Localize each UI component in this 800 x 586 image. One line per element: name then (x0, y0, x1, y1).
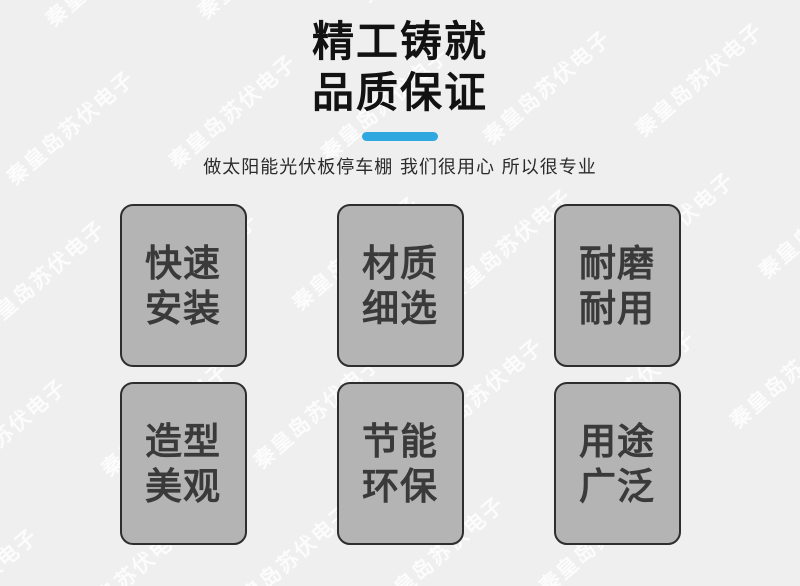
divider-wrapper (0, 132, 800, 141)
feature-card-material-selection: 材质 细选 (337, 204, 464, 367)
page-title-line-2: 品质保证 (0, 67, 800, 118)
feature-card-fast-installation: 快速 安装 (120, 204, 247, 367)
feature-card-line-1: 用途 (579, 419, 655, 464)
feature-card-line-1: 材质 (362, 241, 438, 286)
feature-card-line-1: 节能 (362, 419, 438, 464)
feature-card-line-1: 耐磨 (579, 241, 655, 286)
feature-card-line-1: 造型 (145, 419, 221, 464)
feature-card-grid: 快速 安装 材质 细选 耐磨 耐用 造型 美观 节能 环保 用途 广泛 (0, 204, 800, 545)
header-block: 精工铸就 品质保证 做太阳能光伏板停车棚 我们很用心 所以很专业 (0, 0, 800, 180)
feature-card-line-2: 细选 (362, 286, 438, 331)
feature-card-line-2: 环保 (362, 464, 438, 509)
feature-card-energy-saving: 节能 环保 (337, 382, 464, 545)
accent-divider (362, 132, 438, 141)
feature-card-line-1: 快速 (145, 241, 221, 286)
feature-card-line-2: 耐用 (579, 286, 655, 331)
feature-card-attractive-design: 造型 美观 (120, 382, 247, 545)
feature-card-line-2: 美观 (145, 464, 221, 509)
feature-card-wide-application: 用途 广泛 (554, 382, 681, 545)
feature-card-line-2: 安装 (145, 286, 221, 331)
page-title-line-1: 精工铸就 (0, 16, 800, 67)
feature-card-line-2: 广泛 (579, 464, 655, 509)
promo-banner: 秦皇岛苏伏电子 秦皇岛苏伏电子 秦皇岛苏伏电子 秦皇岛苏伏电子 秦皇岛苏伏电子 … (0, 0, 800, 586)
feature-card-wear-resistant: 耐磨 耐用 (554, 204, 681, 367)
page-subtitle: 做太阳能光伏板停车棚 我们很用心 所以很专业 (0, 156, 800, 180)
